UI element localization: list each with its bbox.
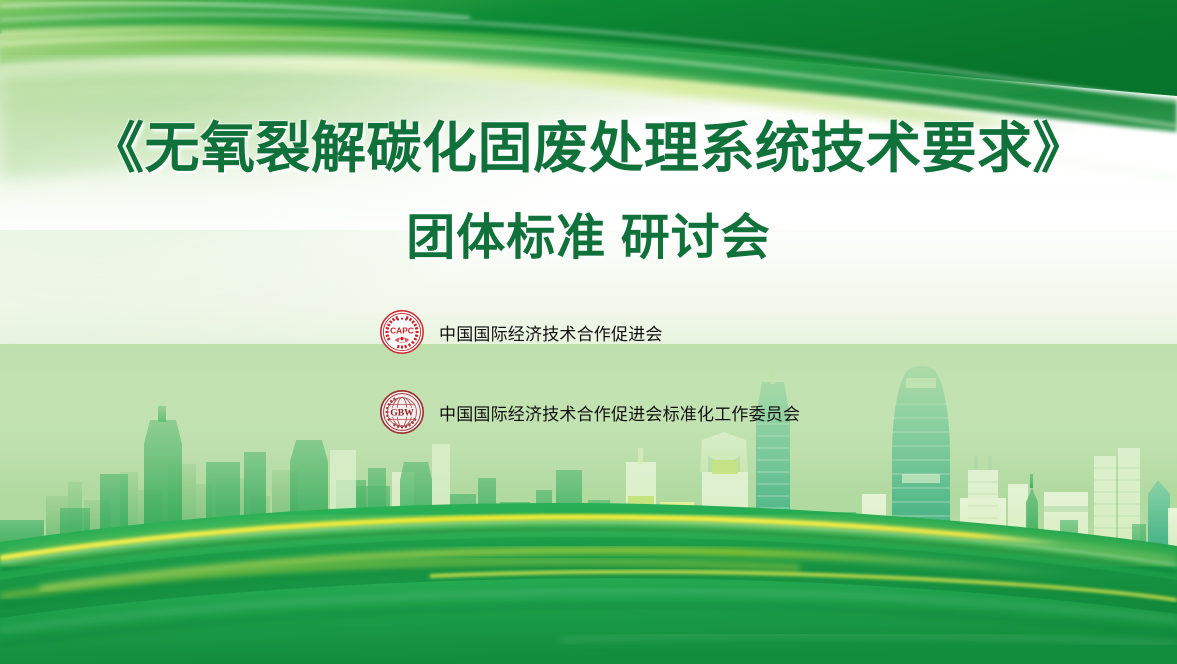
organization-label-gbw: 中国国际经济技术合作促进会标准化工作委员会 (439, 400, 800, 425)
organization-row-capc: CAPC 中国国际经济技术合作促进会 (379, 309, 663, 355)
organization-label-capc: 中国国际经济技术合作促进会 (439, 320, 663, 345)
gbw-seal-svg: GBW (379, 389, 425, 435)
capc-seal-abbr: CAPC (390, 325, 414, 335)
page-subtitle: 团体标准 研讨会 (0, 206, 1177, 270)
capc-seal-svg: CAPC (379, 309, 425, 355)
page-title: 《无氧裂解碳化固废处理系统技术要求》 (0, 113, 1177, 183)
organization-row-gbw: GBW 中国国际经济技术合作促进会标准化工作委员会 (379, 389, 800, 435)
gbw-seal-abbr: GBW (390, 407, 414, 418)
gbw-seal-icon: GBW (379, 389, 425, 435)
capc-seal-icon: CAPC (379, 309, 425, 355)
presentation-title-slide: 《无氧裂解碳化固废处理系统技术要求》 团体标准 研讨会 (0, 0, 1177, 664)
